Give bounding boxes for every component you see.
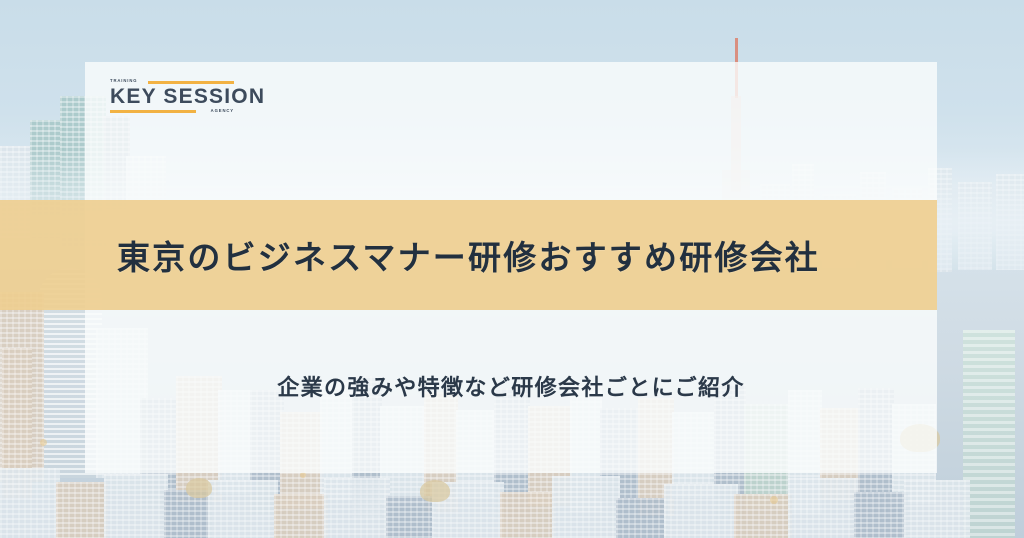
- building: [664, 484, 738, 538]
- light-spot: [40, 439, 47, 446]
- logo-key-session[interactable]: TRAINING KEY SESSION AGENCY: [110, 76, 234, 118]
- building: [208, 480, 278, 538]
- logo-accent-rule-bottom: [110, 110, 196, 113]
- logo-accent-rule-top: [148, 81, 234, 84]
- building: [854, 492, 908, 538]
- building: [616, 498, 668, 538]
- logo-wordmark: KEY SESSION: [110, 85, 265, 108]
- building: [500, 492, 556, 538]
- glass-office-tower: [963, 330, 1015, 538]
- title-banner: 東京のビジネスマナー研修おすすめ研修会社: [0, 200, 937, 310]
- building: [0, 468, 60, 538]
- building: [274, 494, 328, 538]
- building: [904, 480, 970, 538]
- tree-foliage: [420, 480, 450, 502]
- building: [104, 474, 168, 538]
- building: [734, 494, 792, 538]
- light-spot: [770, 496, 778, 504]
- hero-banner: TRAINING KEY SESSION AGENCY 東京のビジネスマナー研修…: [0, 0, 1024, 538]
- building: [788, 478, 858, 538]
- page-subtitle: 企業の強みや特徴など研修会社ごとにご紹介: [85, 368, 937, 404]
- tree-foliage: [186, 478, 212, 498]
- page-title: 東京のビジネスマナー研修おすすめ研修会社: [0, 200, 937, 310]
- logo-sub-text: AGENCY: [211, 107, 234, 115]
- logo-kicker-text: TRAINING: [110, 77, 137, 85]
- building: [56, 482, 108, 538]
- building: [324, 478, 390, 538]
- building: [552, 476, 620, 538]
- building: [386, 496, 436, 538]
